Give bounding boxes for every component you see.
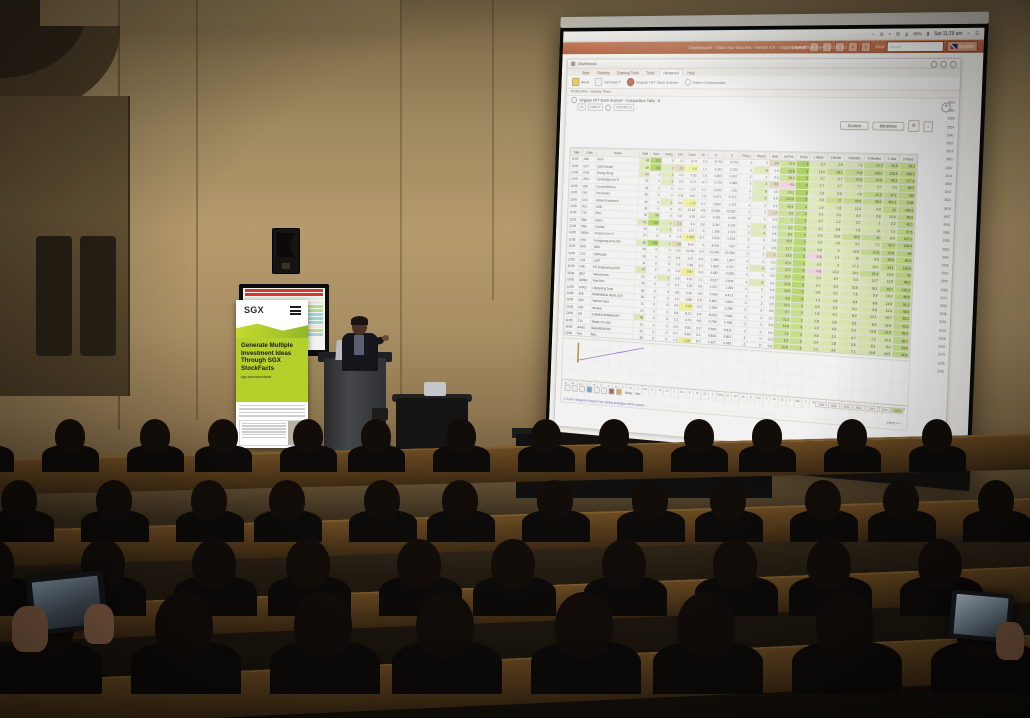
year-button-2012[interactable]: 2012 (853, 404, 865, 411)
comparative-table: DateCodeNameSAMBrkstSwingxVolCloseRCDSPl… (563, 148, 918, 359)
year-button-2013[interactable]: 2013 (866, 405, 878, 412)
list-icon[interactable]: ☰ (975, 30, 980, 36)
sgx-logo-bars (290, 306, 301, 317)
layout-button-5[interactable]: 5 (860, 41, 871, 52)
tab-charting[interactable]: Charting (593, 70, 613, 76)
price-axis: 3604358135683554354135273514350134873474… (926, 99, 955, 436)
presenter (338, 318, 380, 370)
wall-seam (400, 0, 402, 420)
language-button[interactable]: English (946, 41, 978, 52)
settings-icon (616, 388, 622, 395)
date-field[interactable]: 2015-05-23 (614, 104, 634, 112)
wall-seam (492, 0, 494, 300)
price-tick: 3514 (938, 147, 954, 155)
scanner-icon (627, 78, 635, 86)
magnify-icon (579, 386, 585, 393)
side-table-laptop (424, 382, 446, 396)
price-tick: 3568 (939, 115, 955, 123)
lock-icon (601, 387, 607, 394)
menu-clock[interactable]: Sat 11:29 am (934, 30, 963, 36)
side-table (396, 398, 468, 460)
window-title: ChartNexus (578, 61, 597, 66)
price-tick: 3152 (929, 366, 945, 375)
bluetooth-icon[interactable]: ⌁ (872, 31, 875, 37)
window-title-bar[interactable]: ChartNexus (568, 59, 961, 69)
screen-button[interactable]: Screen (840, 121, 869, 130)
projection-screen: ⌁ ◍ ◗ ▤ ◭ 80% ▮ Sat 11:29 am ⌕ ☰ ChartNe… (545, 22, 989, 492)
banner-text-lines (239, 405, 305, 417)
year-button-2015[interactable]: 2015 (891, 407, 903, 414)
layout-button-4[interactable]: 4 (848, 42, 859, 53)
minimize-button[interactable]: Minimize (872, 121, 904, 130)
radio-icon[interactable] (571, 96, 577, 102)
crosshair-icon (572, 385, 578, 392)
wall-seam (196, 0, 198, 420)
tab-tools[interactable]: Tools (643, 70, 658, 77)
scanner-panel-title: Singular HFT Stock Scanner - Comparative… (579, 97, 655, 102)
find-group: Find Search English (875, 41, 978, 52)
ribbon-stock-scanner[interactable]: Singular HFT Stock Scanner (627, 78, 679, 87)
find-label: Find (875, 44, 884, 49)
banner-headline-block: Generate Multiple Investment Ideas Throu… (236, 338, 308, 402)
banner-detail (236, 402, 308, 448)
projected-image: ⌁ ◍ ◗ ▤ ◭ 80% ▮ Sat 11:29 am ⌕ ☰ ChartNe… (549, 28, 985, 469)
photo-scene: SGX Generate Multiple Investment Ideas T… (0, 0, 1030, 718)
price-tick: 3554 (938, 123, 954, 131)
cursor-icon (565, 384, 571, 391)
sort-icon[interactable]: ⇅ (658, 98, 661, 103)
projected-desktop: ⌁ ◍ ◗ ▤ ◭ 80% ▮ Sat 11:29 am ⌕ ☰ ChartNe… (549, 28, 985, 469)
price-tick: 3527 (938, 139, 954, 147)
notes-label[interactable]: Notes (625, 391, 632, 395)
banner-top: SGX (236, 300, 308, 322)
camera-icon (609, 388, 615, 395)
sgx-logo: SGX (244, 305, 264, 315)
chartnexus-app-bar: ChartNexus® - Chart Your Success - Versi… (563, 40, 984, 54)
tab-drawing-tools[interactable]: Drawing Tools (614, 70, 643, 76)
info-label[interactable]: Info (635, 391, 640, 395)
ribbon-scanner-label: Singular HFT Stock Scanner (636, 80, 679, 85)
ribbon-visitrade[interactable]: VisiTrade™ (595, 78, 621, 86)
draw-icon (586, 386, 592, 393)
ribbon-alerts-label: Alerts (581, 80, 589, 85)
display-icon[interactable]: ▤ (896, 31, 901, 37)
erase-icon (594, 387, 600, 394)
tab-advanced[interactable]: Advanced (659, 69, 684, 76)
ceiling-soffit (40, 0, 400, 26)
year-button-2011[interactable]: 2011 (840, 403, 852, 410)
bell-icon (572, 78, 580, 86)
year-button-2014[interactable]: 2014 (878, 406, 890, 413)
wall-recess (80, 236, 116, 356)
scroll-right-button[interactable]: › (923, 121, 933, 132)
ribbon-communicator-label: Trader Communicator (692, 80, 726, 85)
language-label: English (959, 44, 974, 49)
close-icon (950, 61, 957, 68)
tab-help[interactable]: Help (684, 70, 698, 77)
wall-speaker (272, 228, 300, 274)
wifi-icon[interactable]: ◍ (879, 31, 883, 37)
volume-icon[interactable]: ◗ (888, 31, 891, 37)
ribbon-visitrade-label: VisiTrade™ (604, 80, 621, 85)
ribbon-alerts[interactable]: Alerts (572, 78, 590, 86)
option-radio[interactable] (605, 104, 611, 110)
battery-icon: ▮ (927, 31, 930, 37)
banner-headline: Generate Multiple Investment Ideas Throu… (241, 342, 303, 372)
tab-start[interactable]: Start (579, 70, 593, 76)
radio-icon (684, 79, 690, 86)
uk-flag-icon (950, 44, 957, 49)
maximize-icon (940, 61, 947, 68)
banner-screenshot-card (239, 420, 305, 446)
chart-icon (595, 78, 603, 86)
year-button-2009[interactable]: 2009 (815, 401, 827, 408)
panel-action-buttons: Screen Minimize ⚙ › (840, 119, 933, 132)
minimize-icon (931, 61, 938, 68)
select-left[interactable]: 10 (577, 103, 585, 110)
airplay-icon[interactable]: ◭ (905, 31, 909, 37)
app-bar-title: ChartNexus® - Chart Your Success - Versi… (688, 45, 846, 51)
comparative-table-wrap[interactable]: DateCodeNameSAMBrkstSwingxVolCloseRCDSPl… (563, 147, 919, 359)
app-icon (571, 61, 575, 66)
price-tick: 3541 (938, 131, 954, 139)
find-input[interactable]: Search (887, 41, 944, 52)
camera-tripod (366, 414, 392, 466)
table-body: 11/05S68SGX4810001.28.740.38.7948.276-12… (563, 155, 917, 358)
ribbon-trader-communicator[interactable]: Trader Communicator (684, 79, 725, 86)
chartnexus-window: ChartNexus Start Charting Drawing Tools … (554, 58, 962, 461)
wall-recess (36, 236, 72, 356)
last-period-select[interactable]: Last 1Y (588, 103, 603, 110)
battery-percent: 80% (913, 31, 922, 36)
year-button-2010[interactable]: 2010 (828, 402, 840, 409)
search-icon[interactable]: ⌕ (967, 30, 970, 36)
banner-wave (236, 322, 308, 338)
banner-url: sgx.com/stockfacts (241, 375, 303, 379)
window-controls[interactable] (931, 61, 957, 68)
gear-icon[interactable]: ⚙ (908, 120, 920, 132)
sgx-banner: SGX Generate Multiple Investment Ideas T… (236, 300, 308, 448)
